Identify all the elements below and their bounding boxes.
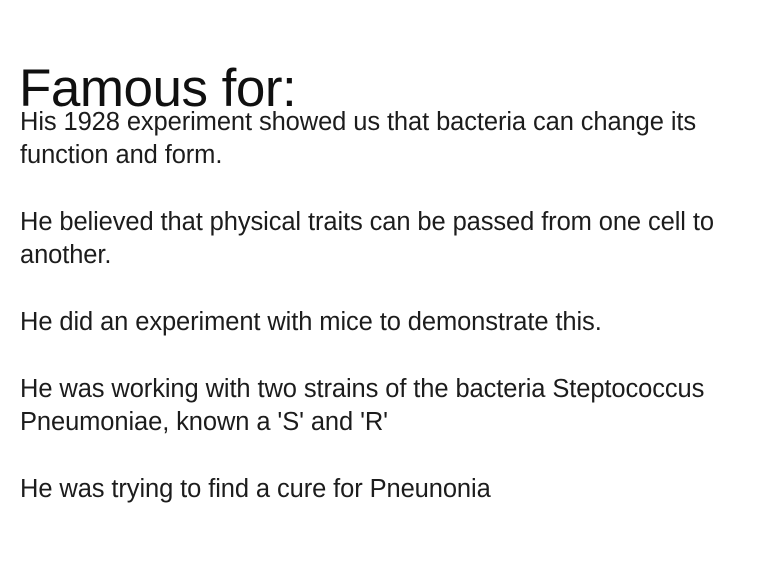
paragraph-strains: He was working with two strains of the b… xyxy=(20,373,756,439)
paragraph-mice: He did an experiment with mice to demons… xyxy=(20,306,756,339)
slide-canvas: Famous for: His 1928 experiment showed u… xyxy=(0,0,768,561)
paragraph-experiment: His 1928 experiment showed us that bacte… xyxy=(20,106,756,172)
paragraph-traits: He believed that physical traits can be … xyxy=(20,206,756,272)
paragraph-cure: He was trying to find a cure for Pneunon… xyxy=(20,473,756,506)
slide-body: His 1928 experiment showed us that bacte… xyxy=(20,106,756,506)
